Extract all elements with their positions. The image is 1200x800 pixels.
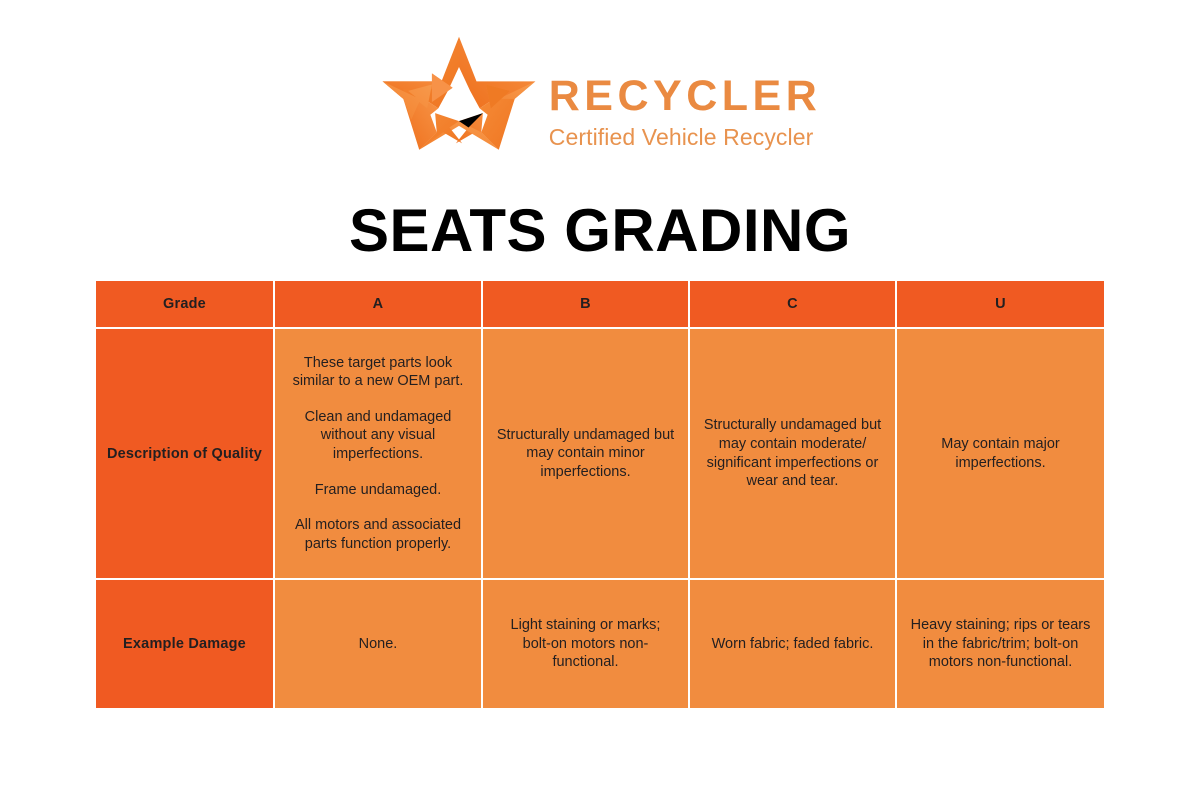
logo-text: RECYCLER Certified Vehicle Recycler	[549, 59, 822, 154]
cell-paragraph: All motors and associated parts function…	[283, 516, 473, 553]
cell-paragraph: Light staining or marks; bolt-on motors …	[495, 616, 676, 672]
cell-paragraph: Structurally undamaged but may contain m…	[702, 416, 883, 490]
logo-tagline: Certified Vehicle Recycler	[549, 122, 822, 153]
header-cell-c: C	[690, 281, 897, 329]
cell-example-u: Heavy staining; rips or tears in the fab…	[897, 580, 1104, 708]
cell-example-a: None.	[275, 580, 483, 708]
table-row-description: Description of Quality These target part…	[96, 329, 1104, 580]
cell-paragraph: May contain major imperfections.	[909, 435, 1092, 472]
row-label-description: Description of Quality	[96, 329, 275, 580]
logo-inner: RECYCLER Certified Vehicle Recycler	[379, 32, 822, 180]
cell-paragraph: These target parts look similar to a new…	[283, 354, 473, 391]
cell-description-u: May contain major imperfections.	[897, 329, 1104, 580]
header-cell-u: U	[897, 281, 1104, 329]
cell-example-c: Worn fabric; faded fabric.	[690, 580, 897, 708]
row-label-example-damage: Example Damage	[96, 580, 275, 708]
header-cell-grade: Grade	[96, 281, 275, 329]
recycling-star-icon	[379, 32, 539, 180]
logo-wordmark: RECYCLER	[549, 75, 822, 119]
seats-grading-table: Grade A B C U Description of Quality The…	[96, 281, 1104, 708]
table-row-example-damage: Example Damage None. Light staining or m…	[96, 580, 1104, 708]
cell-paragraph: None.	[287, 635, 469, 654]
cell-paragraph: Heavy staining; rips or tears in the fab…	[909, 616, 1092, 672]
cell-description-a: These target parts look similar to a new…	[275, 329, 483, 580]
page-title: SEATS GRADING	[0, 196, 1200, 265]
cell-description-c: Structurally undamaged but may contain m…	[690, 329, 897, 580]
cell-example-b: Light staining or marks; bolt-on motors …	[483, 580, 690, 708]
cell-paragraph: Frame undamaged.	[283, 481, 473, 500]
cell-paragraph: Worn fabric; faded fabric.	[702, 635, 883, 654]
header-cell-a: A	[275, 281, 483, 329]
brand-logo: RECYCLER Certified Vehicle Recycler	[0, 30, 1200, 182]
cell-paragraph: Clean and undamaged without any visual i…	[283, 408, 473, 464]
header-cell-b: B	[483, 281, 690, 329]
cell-paragraph: Structurally undamaged but may contain m…	[495, 426, 676, 482]
table-header-row: Grade A B C U	[96, 281, 1104, 329]
cell-description-b: Structurally undamaged but may contain m…	[483, 329, 690, 580]
